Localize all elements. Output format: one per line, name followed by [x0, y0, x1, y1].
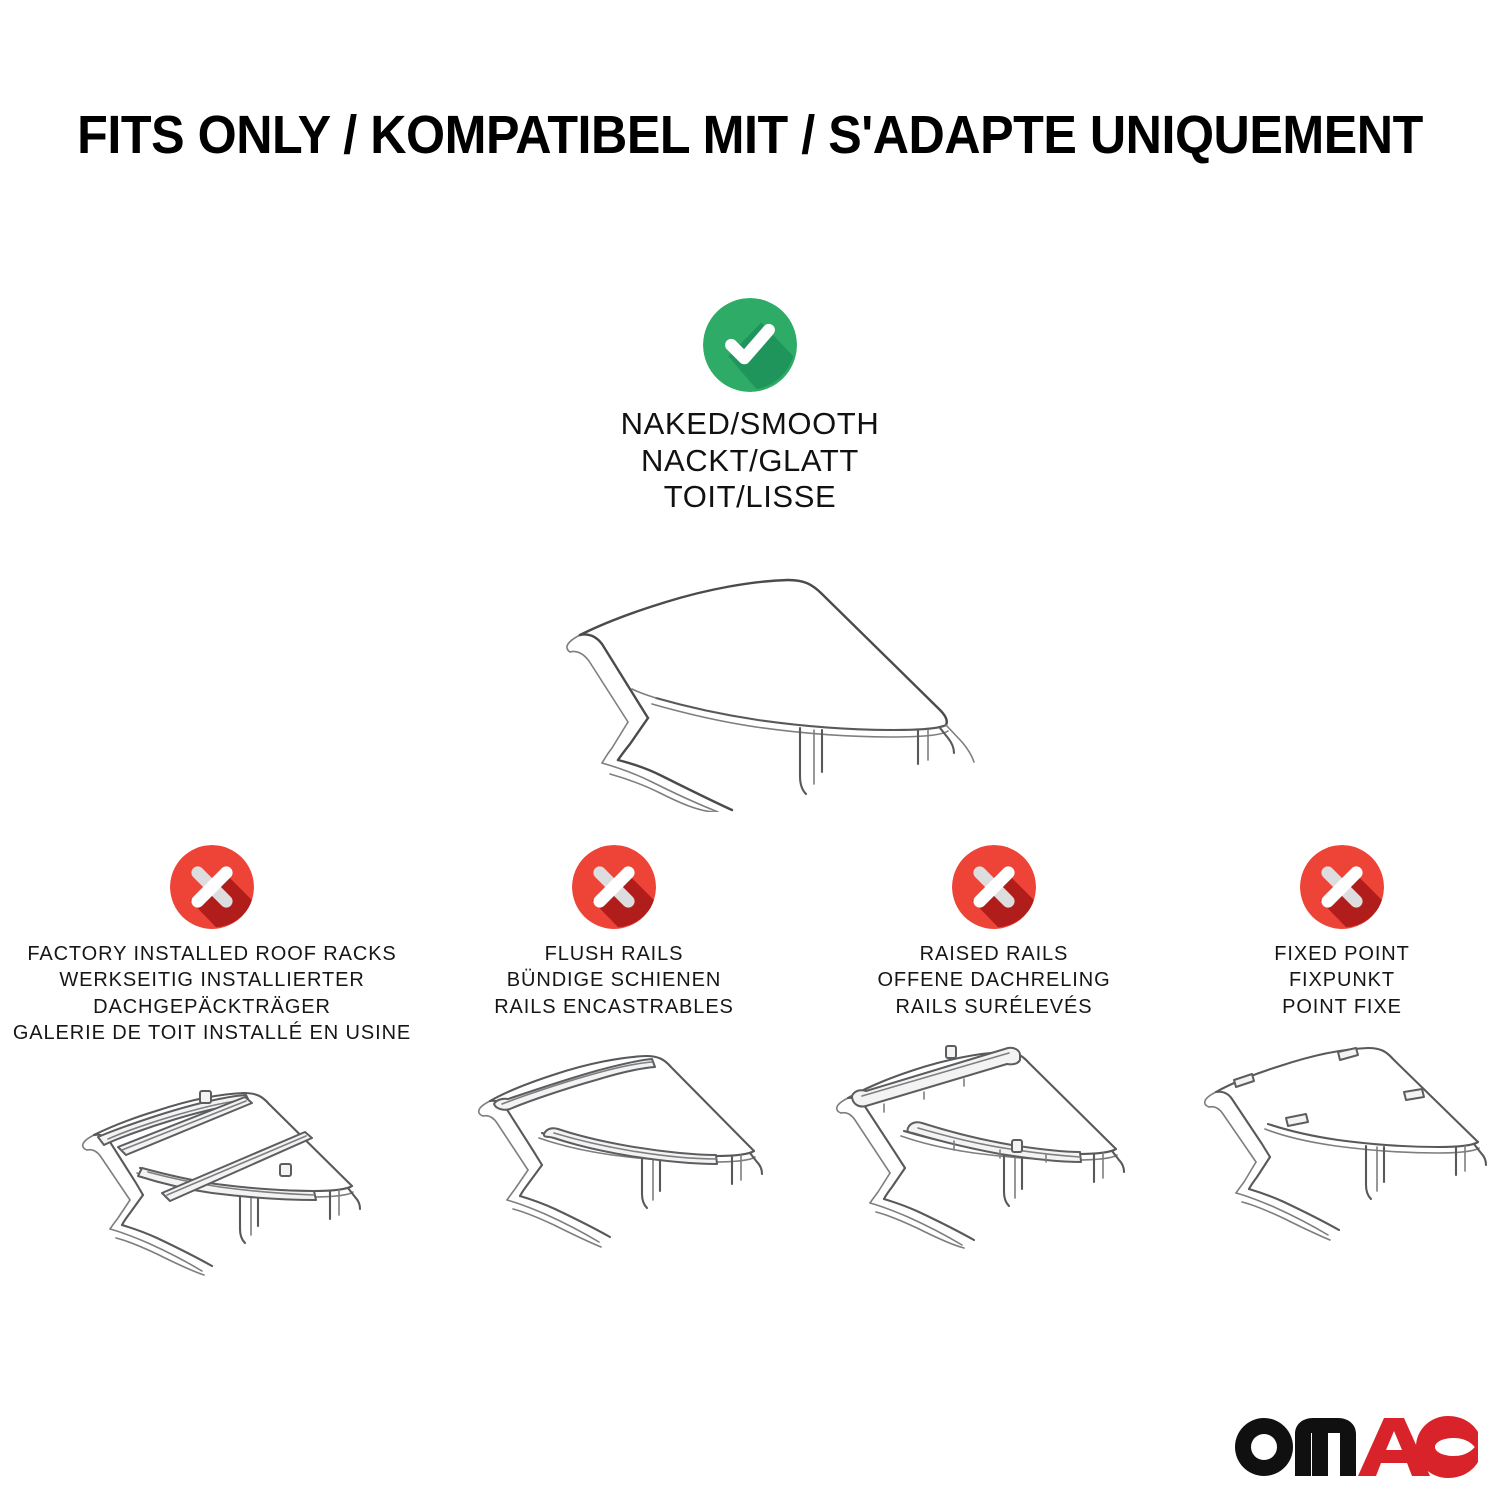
compatible-section: NAKED/SMOOTH NACKT/GLATT TOIT/LISSE — [0, 298, 1500, 812]
incompatible-label-en: FLUSH RAILS — [494, 941, 734, 967]
incompatible-label-fr: RAILS SURÉLEVÉS — [877, 994, 1110, 1020]
incompatible-label-fr: GALERIE DE TOIT INSTALLÉ EN USINE — [13, 1020, 411, 1046]
incompatible-label-en: RAISED RAILS — [877, 941, 1110, 967]
incompatible-item-fixed-point: FIXED POINT FIXPUNKT POINT FIXE — [1184, 845, 1500, 1276]
compatible-label-en: NAKED/SMOOTH — [621, 406, 880, 443]
roof-with-fixed-points-illustration — [1172, 1034, 1500, 1249]
incompatible-label-fr: POINT FIXE — [1274, 994, 1409, 1020]
cross-circle-icon — [952, 845, 1036, 929]
bare-car-roof-illustration — [470, 532, 1030, 812]
incompatible-label-de: BÜNDIGE SCHIENEN — [494, 967, 734, 993]
incompatible-caption: RAISED RAILS OFFENE DACHRELING RAILS SUR… — [877, 941, 1110, 1020]
check-circle-icon — [703, 298, 797, 392]
compatible-label-fr: TOIT/LISSE — [621, 479, 880, 516]
incompatible-item-factory-roof-racks: FACTORY INSTALLED ROOF RACKS WERKSEITIG … — [0, 845, 424, 1276]
compatible-label-de: NACKT/GLATT — [621, 443, 880, 480]
page-title: FITS ONLY / KOMPATIBEL MIT / S'ADAPTE UN… — [53, 104, 1448, 166]
incompatible-label-de-1: WERKSEITIG INSTALLIERTER — [13, 967, 411, 993]
omac-logo — [1232, 1412, 1478, 1478]
incompatible-section: FACTORY INSTALLED ROOF RACKS WERKSEITIG … — [0, 845, 1500, 1276]
roof-with-flush-rails-illustration — [424, 1034, 804, 1249]
incompatible-label-de-2: DACHGEPÄCKTRÄGER — [13, 994, 411, 1020]
roof-with-factory-rack-crossbars-illustration — [12, 1061, 412, 1276]
incompatible-item-flush-rails: FLUSH RAILS BÜNDIGE SCHIENEN RAILS ENCAS… — [424, 845, 804, 1276]
cross-circle-icon — [572, 845, 656, 929]
incompatible-label-en: FIXED POINT — [1274, 941, 1409, 967]
incompatible-label-de: FIXPUNKT — [1274, 967, 1409, 993]
incompatible-caption: FLUSH RAILS BÜNDIGE SCHIENEN RAILS ENCAS… — [494, 941, 734, 1020]
compatible-caption: NAKED/SMOOTH NACKT/GLATT TOIT/LISSE — [621, 406, 880, 516]
cross-circle-icon — [1300, 845, 1384, 929]
incompatible-label-de: OFFENE DACHRELING — [877, 967, 1110, 993]
incompatible-label-en: FACTORY INSTALLED ROOF RACKS — [13, 941, 411, 967]
cross-circle-icon — [170, 845, 254, 929]
incompatible-label-fr: RAILS ENCASTRABLES — [494, 994, 734, 1020]
roof-with-raised-rails-illustration — [804, 1034, 1184, 1249]
incompatible-caption: FIXED POINT FIXPUNKT POINT FIXE — [1274, 941, 1409, 1020]
incompatible-item-raised-rails: RAISED RAILS OFFENE DACHRELING RAILS SUR… — [804, 845, 1184, 1276]
incompatible-caption: FACTORY INSTALLED ROOF RACKS WERKSEITIG … — [13, 941, 411, 1047]
